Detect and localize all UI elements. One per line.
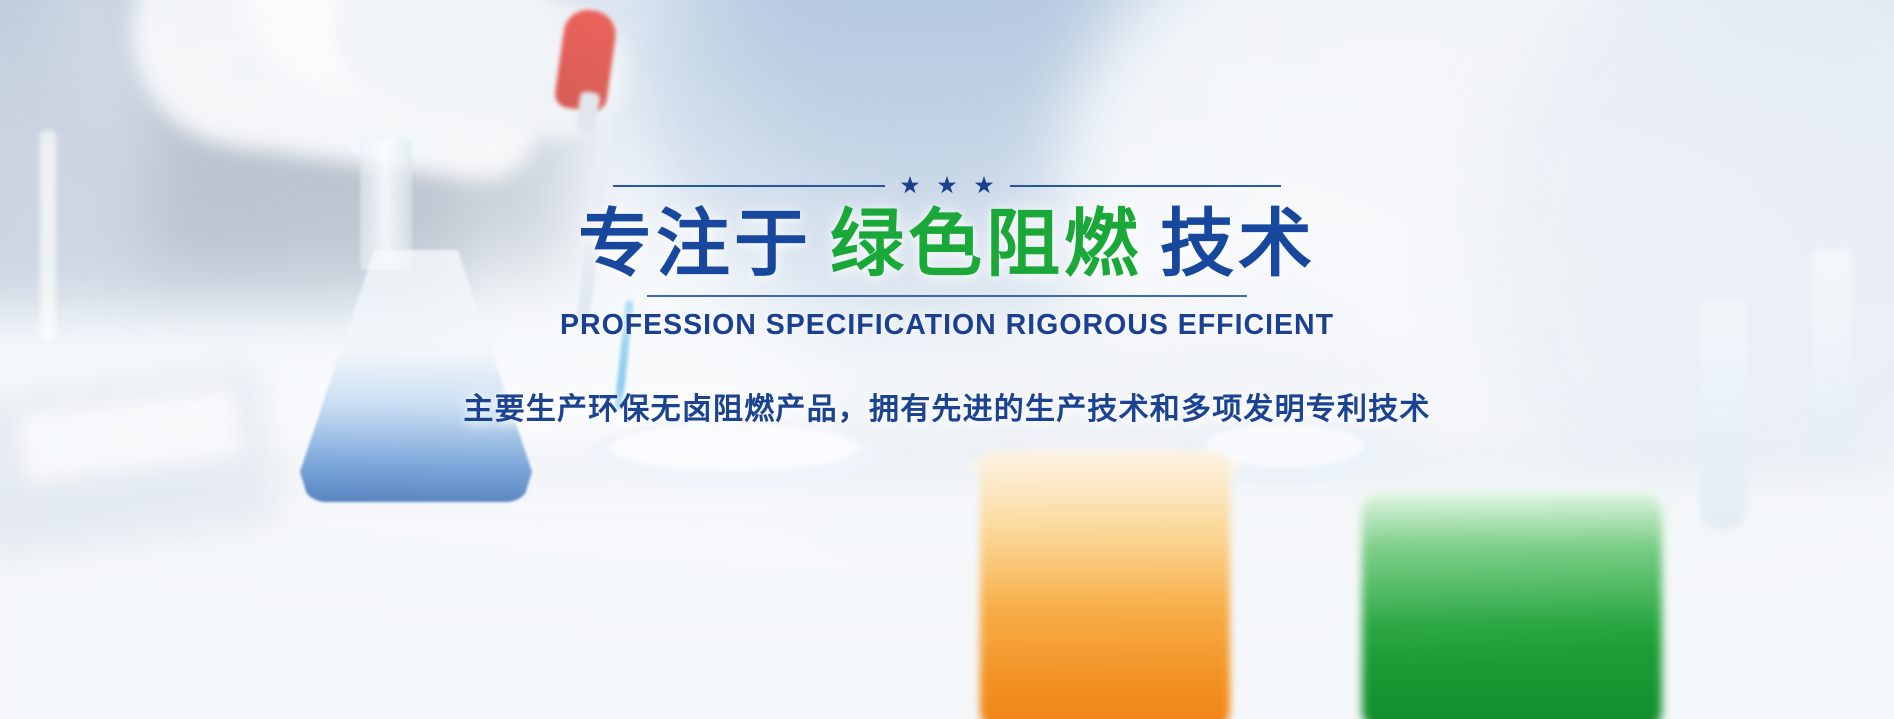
star-group (885, 176, 1010, 195)
star-icon (938, 176, 957, 195)
page-title: 专注于绿色阻燃技术 (578, 205, 1316, 283)
banner-content: 专注于绿色阻燃技术 PROFESSION SPECIFICATION RIGOR… (0, 0, 1894, 719)
description-chinese: 主要生产环保无卤阻燃产品，拥有先进的生产技术和多项发明专利技术 (463, 384, 1430, 428)
divider-line-left (613, 185, 885, 187)
title-part-1: 专注于 (578, 202, 812, 285)
title-part-3: 技术 (1160, 202, 1316, 285)
star-icon (975, 176, 994, 195)
title-part-2: 绿色阻燃 (830, 202, 1142, 285)
star-divider (613, 176, 1281, 195)
subtitle-english: PROFESSION SPECIFICATION RIGOROUS EFFICI… (560, 309, 1334, 342)
divider-line-right (1010, 185, 1282, 187)
star-icon (901, 176, 920, 195)
hero-banner: 专注于绿色阻燃技术 PROFESSION SPECIFICATION RIGOR… (0, 0, 1894, 719)
subtitle-rule (647, 295, 1247, 297)
